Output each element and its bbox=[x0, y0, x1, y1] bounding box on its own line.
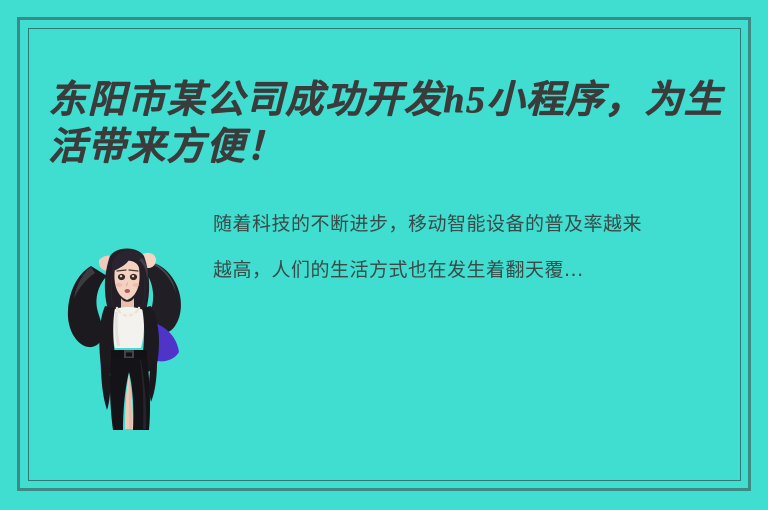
page-title: 东阳市某公司成功开发h5小程序，为生活带来方便！ bbox=[48, 77, 728, 171]
woman-illustration-icon bbox=[55, 226, 201, 438]
article-card: 东阳市某公司成功开发h5小程序，为生活带来方便！ 随着科技的不断进步，移动智能设… bbox=[0, 0, 768, 510]
article-excerpt: 随着科技的不断进步，移动智能设备的普及率越来越高，人们的生活方式也在发生着翻天覆… bbox=[213, 201, 661, 293]
article-illustration bbox=[55, 226, 201, 438]
